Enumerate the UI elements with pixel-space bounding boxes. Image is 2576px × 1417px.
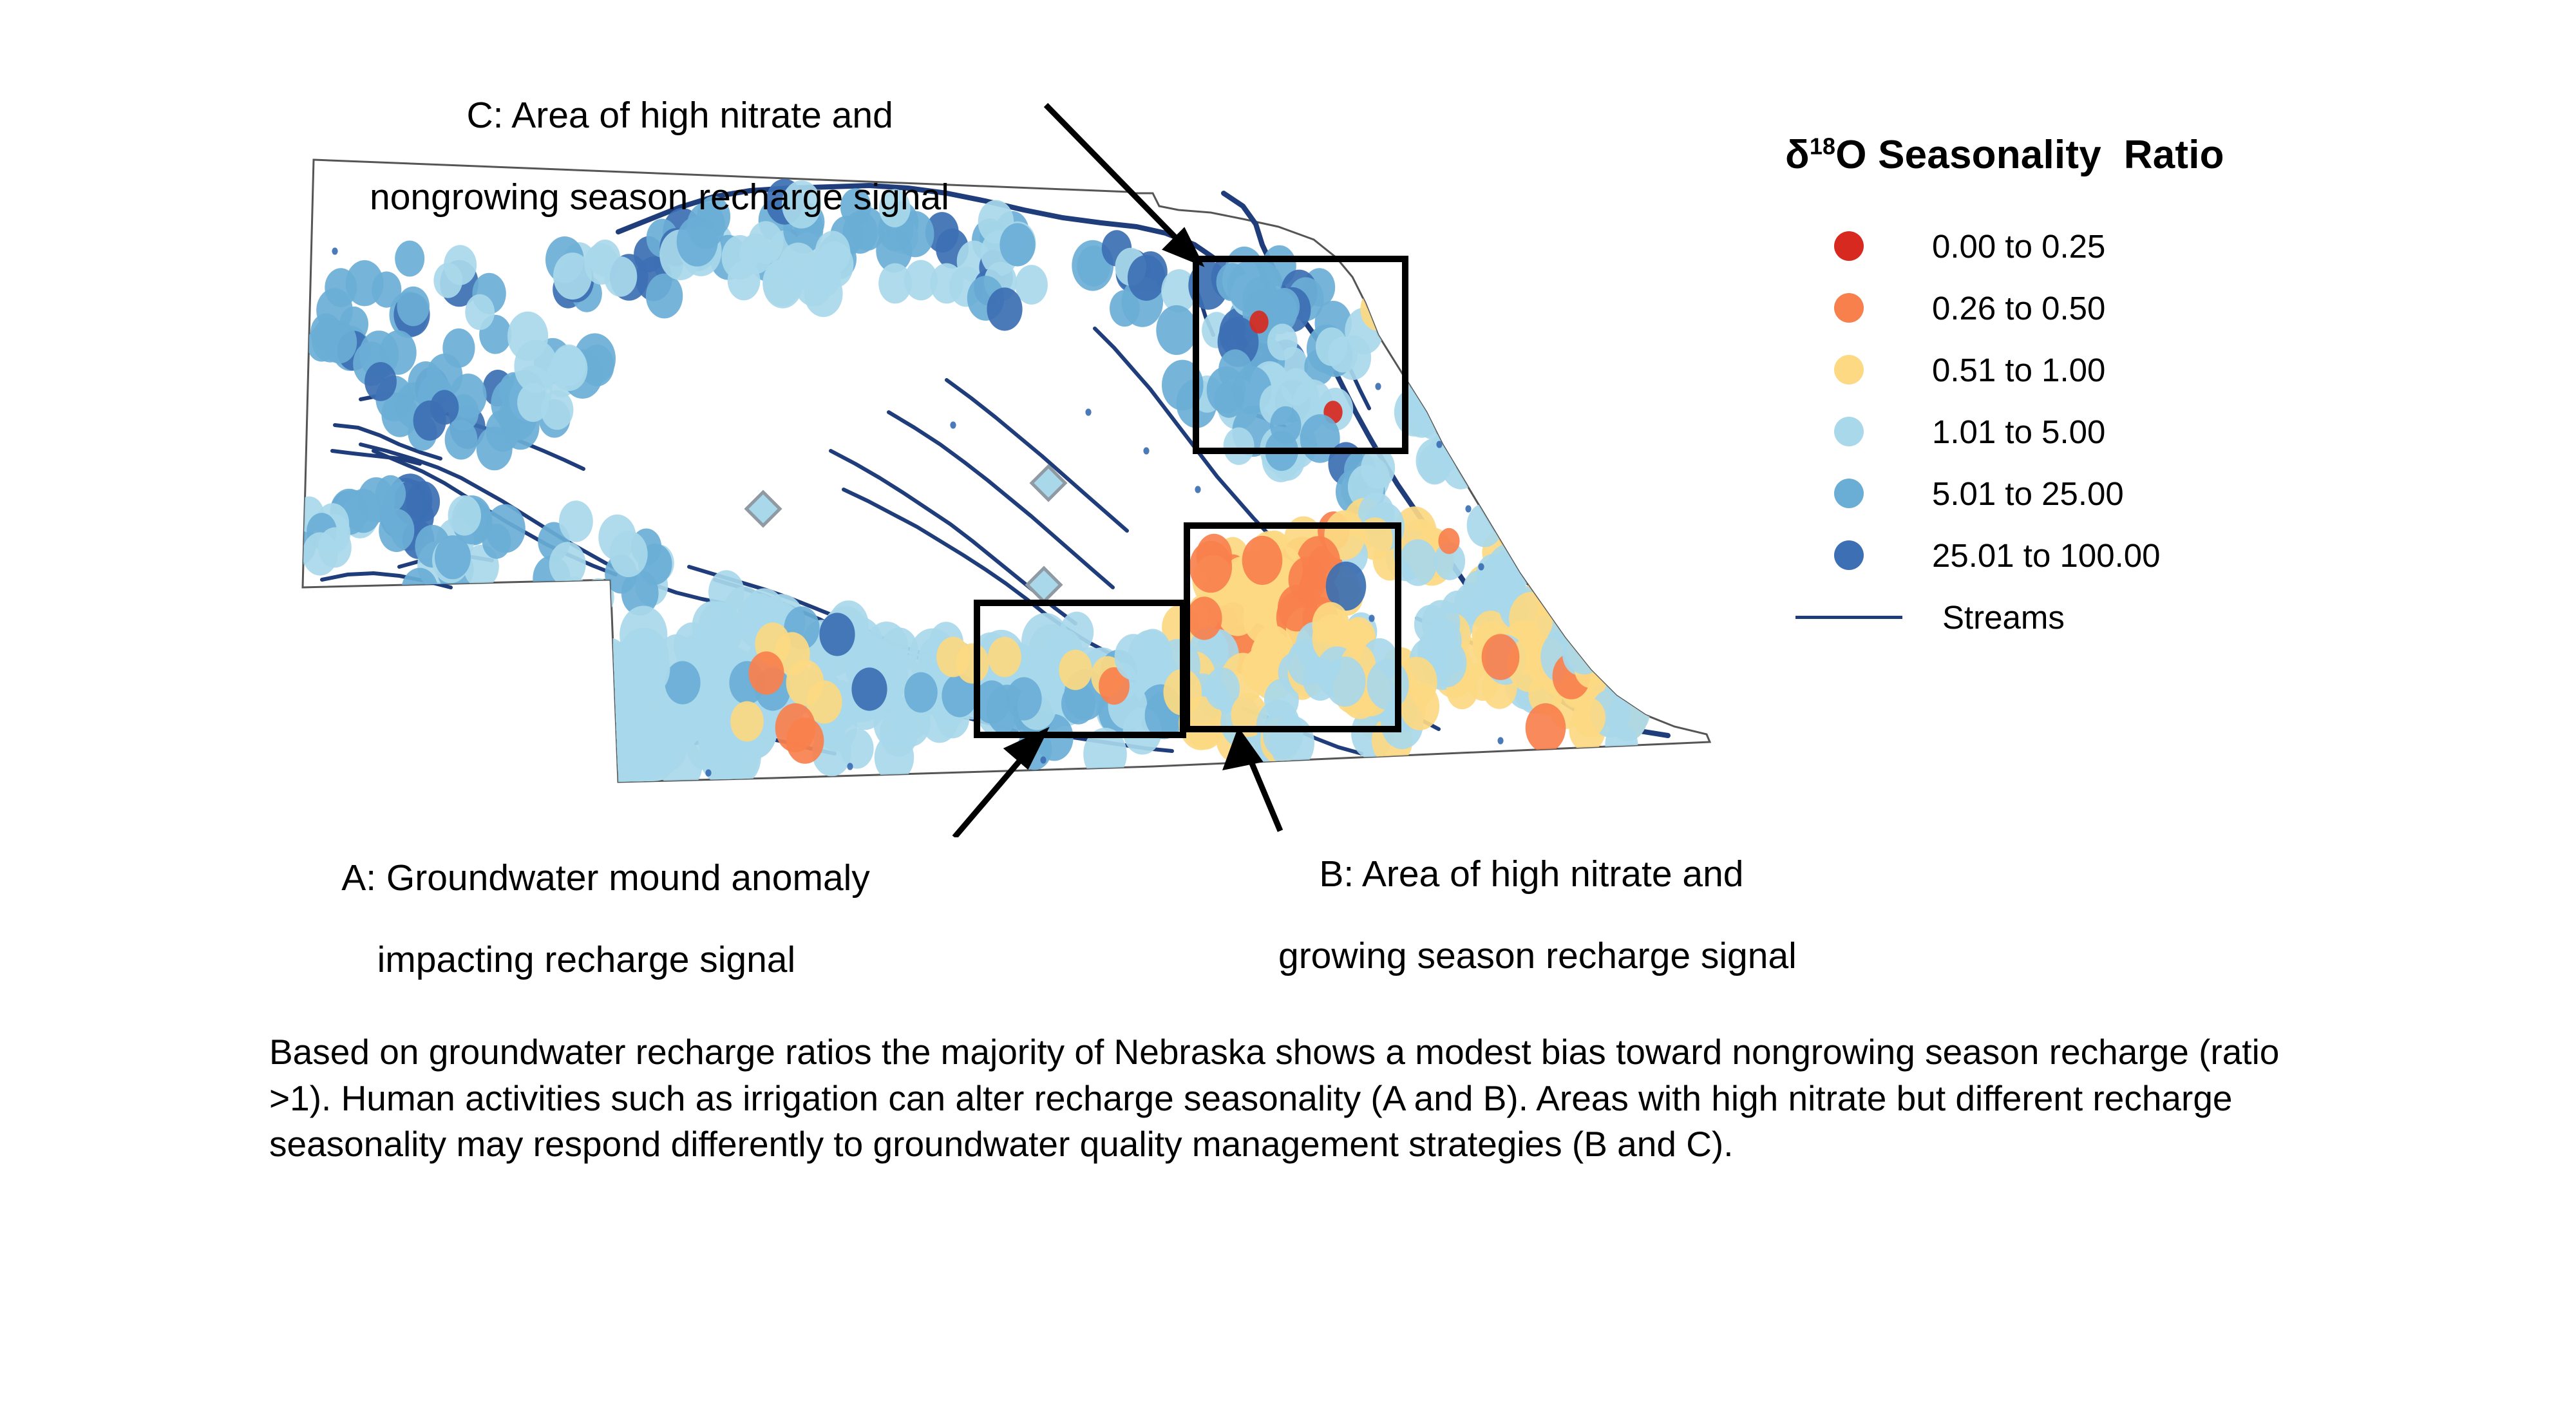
- annotation-b: B: Area of high nitrate and growing seas…: [1278, 813, 1797, 1060]
- map-legend: δ18O Seasonality Ratio 0.00 to 0.250.26 …: [1784, 135, 2492, 648]
- annotation-c-line2: nongrowing season recharge signal: [370, 177, 949, 218]
- sample-point-marker: [500, 582, 529, 618]
- sample-point-marker: [1224, 428, 1255, 465]
- sample-point-marker: [1128, 255, 1165, 301]
- legend-label: Streams: [1942, 598, 2065, 636]
- legend-title: δ18O Seasonality Ratio: [1785, 135, 2492, 175]
- sample-point-marker: [1336, 763, 1342, 770]
- sample-point-marker: [435, 535, 471, 579]
- sample-point-marker: [1563, 567, 1596, 607]
- sample-point-marker: [1407, 756, 1413, 763]
- legend-item-1: 0.26 to 0.50: [1784, 277, 2492, 339]
- sample-point-marker: [1367, 659, 1409, 710]
- legend-swatch-circle-icon: [1834, 355, 1864, 385]
- sample-point-marker: [1441, 442, 1480, 490]
- legend-item-4: 5.01 to 25.00: [1784, 462, 2492, 524]
- legend-label: 25.01 to 100.00: [1932, 537, 2161, 575]
- annotation-c: C: Area of high nitrate and nongrowing s…: [370, 54, 949, 301]
- sample-point-marker: [1438, 528, 1459, 554]
- sample-point-marker: [1325, 656, 1366, 707]
- sample-point-marker: [1565, 627, 1604, 674]
- sample-point-marker: [430, 390, 459, 424]
- sample-point-marker: [1596, 610, 1635, 658]
- sample-point-marker: [401, 568, 438, 613]
- legend-rows: 0.00 to 0.250.26 to 0.500.51 to 1.001.01…: [1784, 215, 2492, 648]
- sample-point-marker: [1478, 563, 1484, 570]
- sample-point-marker: [847, 763, 853, 770]
- sample-point-marker: [1526, 703, 1566, 752]
- legend-label: 1.01 to 5.00: [1932, 413, 2105, 451]
- legend-item-0: 0.00 to 0.25: [1784, 215, 2492, 277]
- sample-point-marker: [559, 576, 589, 613]
- legend-label: 0.51 to 1.00: [1932, 351, 2105, 389]
- sample-point-marker: [1059, 650, 1092, 690]
- legend-swatch-circle-icon: [1834, 293, 1864, 323]
- sample-point-marker: [1563, 584, 1602, 631]
- legend-label: 0.26 to 0.50: [1932, 289, 2105, 327]
- sample-point-marker: [1316, 327, 1347, 366]
- sample-point-marker: [610, 531, 648, 577]
- legend-item-3: 1.01 to 5.00: [1784, 401, 2492, 462]
- sample-point-marker: [1156, 305, 1197, 355]
- sample-point-marker: [1414, 605, 1446, 643]
- sample-point-marker: [325, 268, 357, 307]
- sample-point-marker: [819, 613, 855, 656]
- sample-point-marker: [322, 321, 357, 363]
- legend-item-5: 25.01 to 100.00: [1784, 524, 2492, 586]
- sample-point-marker: [988, 637, 1021, 678]
- sample-point-marker: [1006, 677, 1041, 720]
- sample-point-marker: [730, 701, 764, 742]
- sample-point-marker: [620, 606, 667, 664]
- sample-point-marker: [1270, 406, 1301, 444]
- sample-point-marker: [1040, 756, 1046, 763]
- sample-point-marker: [332, 247, 337, 254]
- sample-point-marker: [786, 718, 824, 764]
- sample-point-marker: [1497, 737, 1503, 744]
- sample-point-marker: [482, 524, 511, 558]
- sample-point-marker: [1573, 698, 1605, 737]
- sample-point-marker: [665, 661, 700, 704]
- annotation-a: A: Groundwater mound anomaly impacting r…: [303, 817, 870, 1063]
- annotation-a-line1: A: Groundwater mound anomaly: [341, 857, 870, 899]
- sample-point-marker: [1189, 541, 1232, 593]
- sample-point-marker: [705, 769, 711, 776]
- sample-point-marker: [1467, 504, 1503, 547]
- sample-point-marker: [559, 500, 593, 542]
- sample-point-marker: [1375, 383, 1381, 390]
- sample-point-marker: [406, 481, 440, 522]
- legend-stream-line-icon: [1795, 616, 1902, 619]
- figure-caption: Based on groundwater recharge ratios the…: [269, 1029, 2317, 1168]
- sample-point-marker: [1267, 324, 1298, 361]
- sample-point-marker: [1465, 505, 1471, 512]
- legend-swatch-circle-icon: [1834, 540, 1864, 570]
- sample-point-marker: [851, 667, 887, 710]
- annotation-c-line1: C: Area of high nitrate and: [467, 95, 893, 136]
- sample-point-marker: [1517, 526, 1551, 567]
- sample-point-marker: [904, 672, 938, 713]
- sample-point-marker: [1289, 556, 1327, 603]
- sample-point-marker: [567, 661, 615, 720]
- sample-point-marker: [365, 362, 397, 401]
- sample-point-marker: [748, 651, 784, 694]
- sample-point-marker: [1060, 612, 1094, 653]
- legend-swatch-circle-icon: [1834, 231, 1864, 261]
- sample-point-marker: [1143, 447, 1149, 454]
- sample-point-marker: [950, 421, 956, 428]
- sample-point-marker: [1607, 692, 1647, 741]
- sample-point-marker: [1497, 501, 1528, 540]
- sample-point-marker: [448, 495, 481, 536]
- sample-point-marker: [987, 287, 1022, 330]
- sample-point-marker: [563, 763, 569, 770]
- sample-point-marker: [1249, 310, 1268, 334]
- sample-point-marker: [567, 655, 605, 701]
- sample-point-marker: [1085, 408, 1091, 415]
- annotation-a-line2: impacting recharge signal: [303, 940, 870, 981]
- legend-swatch-circle-icon: [1834, 417, 1864, 446]
- sample-point-marker: [541, 390, 574, 430]
- legend-item-streams: Streams: [1784, 586, 2492, 648]
- sample-point-marker: [1186, 596, 1222, 640]
- legend-item-2: 0.51 to 1.00: [1784, 339, 2492, 401]
- sample-point-marker: [1360, 287, 1396, 330]
- sample-point-marker: [1399, 539, 1437, 586]
- sample-point-marker: [318, 528, 352, 568]
- sample-point-marker: [1242, 536, 1283, 585]
- sample-point-marker: [999, 223, 1035, 266]
- annotation-b-line1: B: Area of high nitrate and: [1319, 853, 1743, 895]
- sample-point-marker: [956, 643, 989, 684]
- annotation-b-line2: growing season recharge signal: [1278, 936, 1797, 977]
- sample-point-marker: [345, 489, 381, 533]
- sample-point-marker: [1482, 634, 1520, 680]
- sample-point-marker: [583, 578, 614, 616]
- legend-swatch-circle-icon: [1834, 479, 1864, 508]
- legend-label: 0.00 to 0.25: [1932, 227, 2105, 265]
- legend-label: 5.01 to 25.00: [1932, 475, 2124, 513]
- sample-point-marker: [1195, 486, 1200, 493]
- sample-point-marker: [1368, 614, 1374, 622]
- sample-point-marker: [559, 580, 593, 621]
- sample-point-marker: [1135, 629, 1170, 672]
- sample-point-marker: [1269, 288, 1300, 325]
